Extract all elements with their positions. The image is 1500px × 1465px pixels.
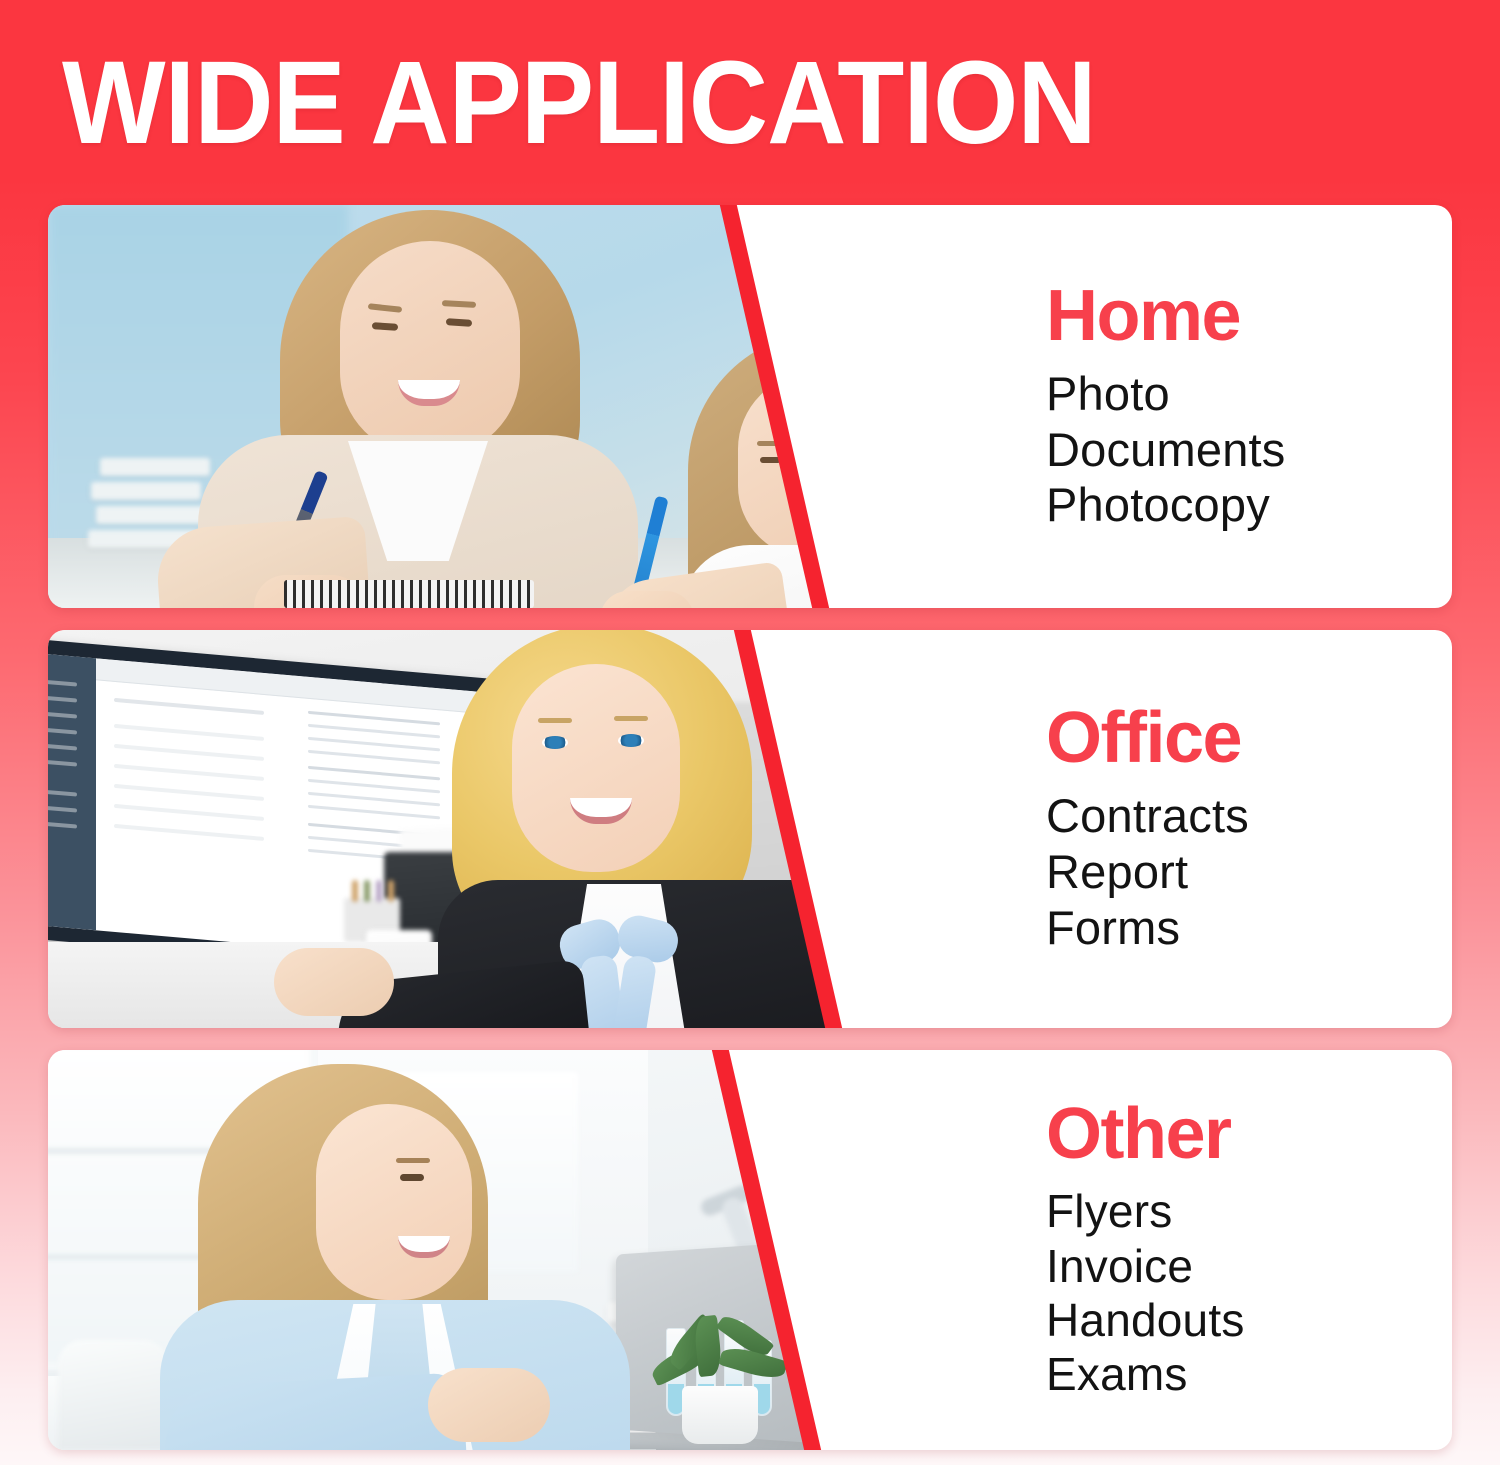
text-pane-other: Other Flyers Invoice Handouts Exams [848, 1050, 1452, 1450]
list-item: Photocopy [1046, 477, 1452, 533]
category-heading-office: Office [1046, 702, 1452, 774]
lab-woman-face [316, 1104, 472, 1300]
category-heading-other: Other [1046, 1098, 1452, 1170]
photo-home [48, 205, 838, 608]
category-heading-home: Home [1046, 280, 1452, 352]
category-list-other: Flyers Invoice Handouts Exams [1046, 1184, 1452, 1401]
document-lines-right [308, 711, 440, 726]
businesswoman-eye-left [542, 736, 568, 749]
photo-office-scene [48, 630, 838, 1028]
businesswoman-eyebrow-right [614, 716, 648, 721]
spiral-notebook [284, 580, 534, 608]
application-card-home: Home Photo Documents Photocopy [48, 205, 1452, 608]
app-sidebar [48, 651, 96, 930]
businesswoman-hand [274, 948, 394, 1016]
lab-woman-eyebrow [396, 1158, 430, 1163]
businesswoman-face [512, 664, 680, 872]
category-list-home: Photo Documents Photocopy [1046, 366, 1452, 534]
girl-eye-right [824, 457, 838, 463]
woman-face [340, 241, 520, 456]
text-pane-office: Office Contracts Report Forms [848, 630, 1452, 1028]
list-item: Contracts [1046, 788, 1452, 844]
photo-office [48, 630, 838, 1028]
document-lines [114, 698, 264, 715]
businesswoman-eye-right [618, 734, 644, 747]
list-item: Report [1046, 844, 1452, 900]
chair [58, 1340, 168, 1450]
application-card-other: Other Flyers Invoice Handouts Exams [48, 1050, 1452, 1450]
lab-woman-eye [400, 1174, 424, 1181]
list-item: Forms [1046, 900, 1452, 956]
application-card-office: Office Contracts Report Forms [48, 630, 1452, 1028]
businesswoman-eyebrow-left [538, 718, 572, 723]
list-item: Documents [1046, 422, 1452, 478]
page-header: WIDE APPLICATION [0, 0, 1500, 200]
app-toolbar [96, 658, 488, 714]
photo-home-scene [48, 205, 838, 608]
category-list-office: Contracts Report Forms [1046, 788, 1452, 956]
lab-woman-hands [428, 1368, 550, 1442]
list-item: Photo [1046, 366, 1452, 422]
list-item: Flyers [1046, 1184, 1452, 1238]
photo-other-scene [48, 1050, 838, 1450]
girl-eyebrow-right [821, 441, 838, 446]
list-item: Handouts [1046, 1293, 1452, 1347]
list-item: Invoice [1046, 1239, 1452, 1293]
page-title: WIDE APPLICATION [62, 44, 1096, 162]
list-item: Exams [1046, 1347, 1452, 1401]
plant-leaves [644, 1312, 794, 1398]
text-pane-home: Home Photo Documents Photocopy [848, 205, 1452, 608]
photo-other [48, 1050, 838, 1450]
